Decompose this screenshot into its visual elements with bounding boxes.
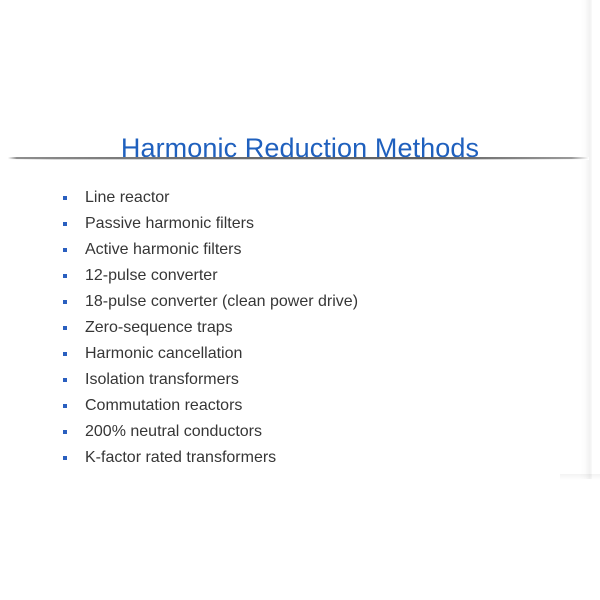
bullet-list: Line reactor Passive harmonic filters Ac… bbox=[62, 185, 562, 471]
bullet-square-icon bbox=[63, 326, 67, 330]
bullet-square-icon bbox=[63, 404, 67, 408]
bullet-square-icon bbox=[63, 430, 67, 434]
list-item: Harmonic cancellation bbox=[62, 341, 562, 367]
bullet-square-icon bbox=[63, 248, 67, 252]
slide-bottom-shadow bbox=[560, 474, 600, 480]
presentation-slide: Harmonic Reduction Methods Line reactor … bbox=[0, 0, 600, 600]
list-item: Active harmonic filters bbox=[62, 237, 562, 263]
bullet-square-icon bbox=[63, 222, 67, 226]
bullet-square-icon bbox=[63, 456, 67, 460]
list-item: 12-pulse converter bbox=[62, 263, 562, 289]
list-item: Zero-sequence traps bbox=[62, 315, 562, 341]
list-item-label: Zero-sequence traps bbox=[85, 315, 233, 341]
list-item: Isolation transformers bbox=[62, 367, 562, 393]
slide-right-shadow bbox=[580, 0, 592, 479]
list-item-label: Harmonic cancellation bbox=[85, 341, 242, 367]
list-item: Commutation reactors bbox=[62, 393, 562, 419]
list-item-label: Isolation transformers bbox=[85, 367, 239, 393]
list-item-label: 200% neutral conductors bbox=[85, 419, 262, 445]
list-item-label: Active harmonic filters bbox=[85, 237, 242, 263]
bullet-square-icon bbox=[63, 196, 67, 200]
list-item-label: 12-pulse converter bbox=[85, 263, 218, 289]
list-item: 200% neutral conductors bbox=[62, 419, 562, 445]
list-item-label: 18-pulse converter (clean power drive) bbox=[85, 289, 358, 315]
list-item: 18-pulse converter (clean power drive) bbox=[62, 289, 562, 315]
bullet-square-icon bbox=[63, 300, 67, 304]
list-item: Line reactor bbox=[62, 185, 562, 211]
list-item: Passive harmonic filters bbox=[62, 211, 562, 237]
list-item-label: Line reactor bbox=[85, 185, 170, 211]
list-item-label: Passive harmonic filters bbox=[85, 211, 254, 237]
bullet-square-icon bbox=[63, 378, 67, 382]
bullet-square-icon bbox=[63, 274, 67, 278]
bullet-square-icon bbox=[63, 352, 67, 356]
list-item-label: Commutation reactors bbox=[85, 393, 242, 419]
list-item-label: K-factor rated transformers bbox=[85, 445, 276, 471]
list-item: K-factor rated transformers bbox=[62, 445, 562, 471]
title-divider-highlight bbox=[8, 159, 589, 160]
